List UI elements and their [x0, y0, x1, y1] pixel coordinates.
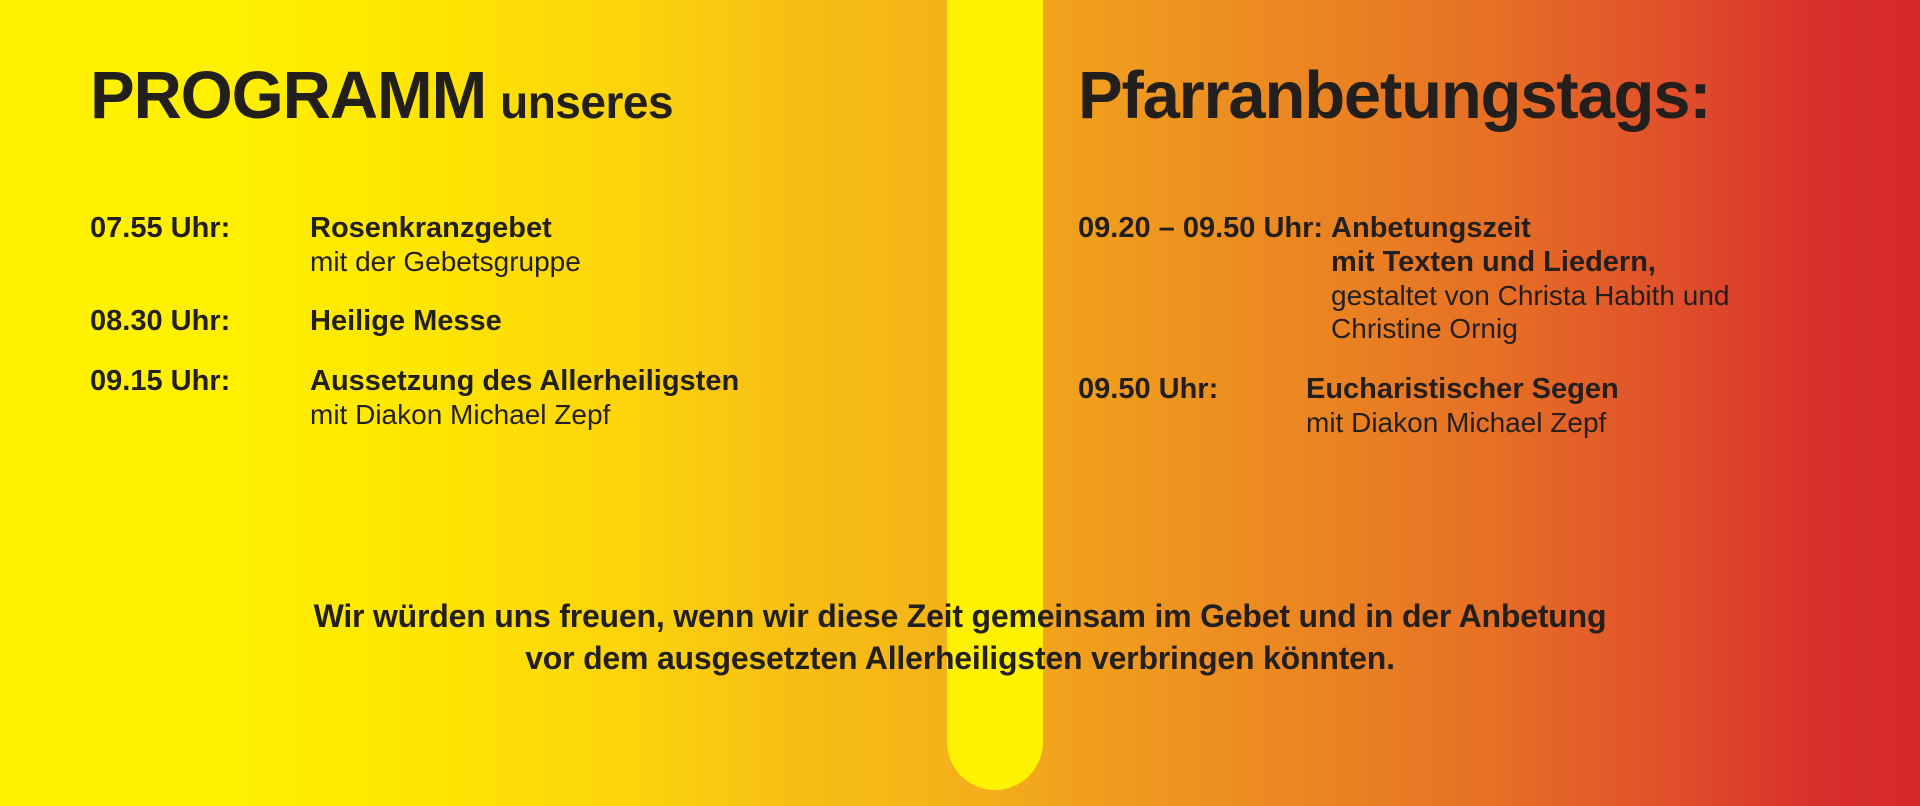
entry-title: Rosenkranzgebet: [310, 212, 581, 246]
left-heading-sub: unseres: [500, 76, 673, 128]
entry-subtitle: gestaltet von Christa Habith und: [1331, 280, 1729, 313]
schedule-entry: 09.15 Uhr: Aussetzung des Allerheiligste…: [0, 365, 948, 432]
right-heading: Pfarranbetungstags:: [1078, 62, 1710, 129]
entry-title: Anbetungszeit: [1331, 212, 1729, 246]
entry-subtitle-second-line: Christine Ornig: [1331, 313, 1729, 346]
entry-time: 09.15 Uhr:: [90, 365, 310, 398]
closing-line-2: vor dem ausgesetzten Allerheiligsten ver…: [0, 638, 1920, 680]
entry-time: 07.55 Uhr:: [90, 212, 310, 245]
poster-content: PROGRAMMunseres 07.55 Uhr: Rosenkranzgeb…: [0, 0, 1920, 806]
right-schedule: 09.20 – 09.50 Uhr: Anbetungszeit mit Tex…: [1043, 212, 1920, 466]
schedule-entry: 07.55 Uhr: Rosenkranzgebet mit der Gebet…: [0, 212, 948, 279]
entry-time: 08.30 Uhr:: [90, 305, 310, 338]
entry-description: Heilige Messe: [310, 305, 502, 339]
schedule-entry: 09.20 – 09.50 Uhr: Anbetungszeit mit Tex…: [1043, 212, 1920, 345]
closing-note: Wir würden uns freuen, wenn wir diese Ze…: [0, 596, 1920, 679]
closing-line-1: Wir würden uns freuen, wenn wir diese Ze…: [0, 596, 1920, 638]
left-heading: PROGRAMMunseres: [90, 62, 673, 129]
entry-time: 09.50 Uhr:: [1078, 373, 1306, 406]
entry-description: Eucharistischer Segen mit Diakon Michael…: [1306, 373, 1619, 440]
entry-description: Anbetungszeit mit Texten und Liedern, ge…: [1331, 212, 1729, 345]
right-heading-strong: Pfarranbetungstags:: [1078, 58, 1710, 133]
entry-subtitle: mit der Gebetsgruppe: [310, 246, 581, 279]
schedule-entry: 08.30 Uhr: Heilige Messe: [0, 305, 948, 339]
entry-time: 09.20 – 09.50 Uhr:: [1078, 212, 1323, 245]
entry-description: Rosenkranzgebet mit der Gebetsgruppe: [310, 212, 581, 279]
left-heading-strong: PROGRAMM: [90, 58, 486, 133]
entry-title: Aussetzung des Allerheiligsten: [310, 365, 739, 399]
entry-title: Heilige Messe: [310, 305, 502, 339]
entry-subtitle: mit Diakon Michael Zepf: [310, 399, 739, 432]
entry-title-second-line: mit Texten und Liedern,: [1331, 246, 1729, 280]
program-poster: PROGRAMMunseres 07.55 Uhr: Rosenkranzgeb…: [0, 0, 1920, 806]
entry-description: Aussetzung des Allerheiligsten mit Diako…: [310, 365, 739, 432]
left-schedule: 07.55 Uhr: Rosenkranzgebet mit der Gebet…: [0, 212, 948, 457]
schedule-entry: 09.50 Uhr: Eucharistischer Segen mit Dia…: [1043, 373, 1920, 440]
entry-subtitle: mit Diakon Michael Zepf: [1306, 407, 1619, 440]
entry-title: Eucharistischer Segen: [1306, 373, 1619, 407]
